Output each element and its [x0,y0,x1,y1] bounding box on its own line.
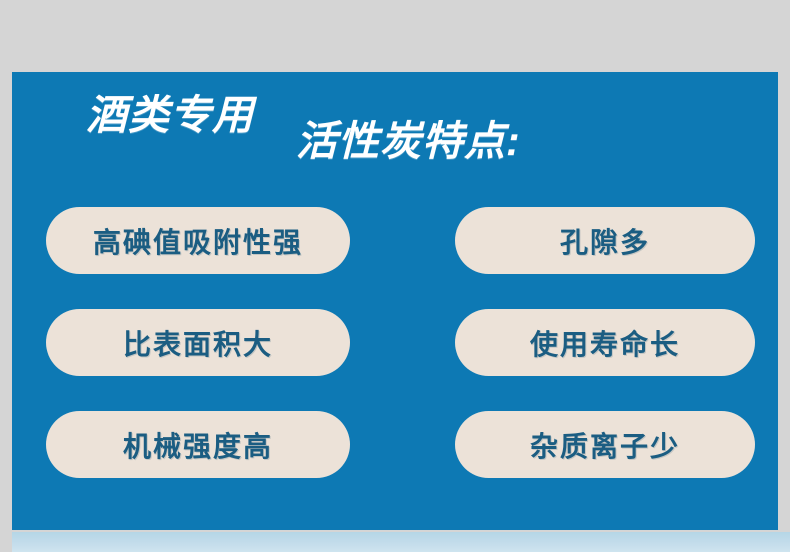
feature-pill-grid: 高碘值吸附性强 孔隙多 比表面积大 使用寿命长 机械强度高 [12,197,778,530]
feature-row: 比表面积大 使用寿命长 [12,309,778,376]
banner-stage: 酒类专用 活性炭特点: 高碘值吸附性强 孔隙多 比表面积大 使用寿命长 [0,0,790,552]
feature-pill: 高碘值吸附性强 [46,207,350,274]
feature-row: 高碘值吸附性强 孔隙多 [12,207,778,274]
feature-pill-label: 比表面积大 [123,323,273,363]
feature-pill: 孔隙多 [455,207,755,274]
feature-row: 机械强度高 杂质离子少 [12,411,778,478]
feature-pill: 比表面积大 [46,309,350,376]
feature-pill-label: 孔隙多 [560,221,650,261]
feature-pill: 杂质离子少 [455,411,755,478]
bottom-accent-band [12,532,790,552]
heading-primary: 酒类专用 [86,92,254,138]
feature-pill-label: 使用寿命长 [530,323,680,363]
feature-pill-label: 杂质离子少 [530,425,680,465]
heading-group: 酒类专用 活性炭特点: [12,72,778,197]
feature-pill-label: 高碘值吸附性强 [93,221,303,261]
heading-secondary: 活性炭特点: [296,118,521,164]
feature-pill: 使用寿命长 [455,309,755,376]
feature-pill: 机械强度高 [46,411,350,478]
feature-panel: 酒类专用 活性炭特点: 高碘值吸附性强 孔隙多 比表面积大 使用寿命长 [12,72,778,530]
feature-pill-label: 机械强度高 [123,425,273,465]
